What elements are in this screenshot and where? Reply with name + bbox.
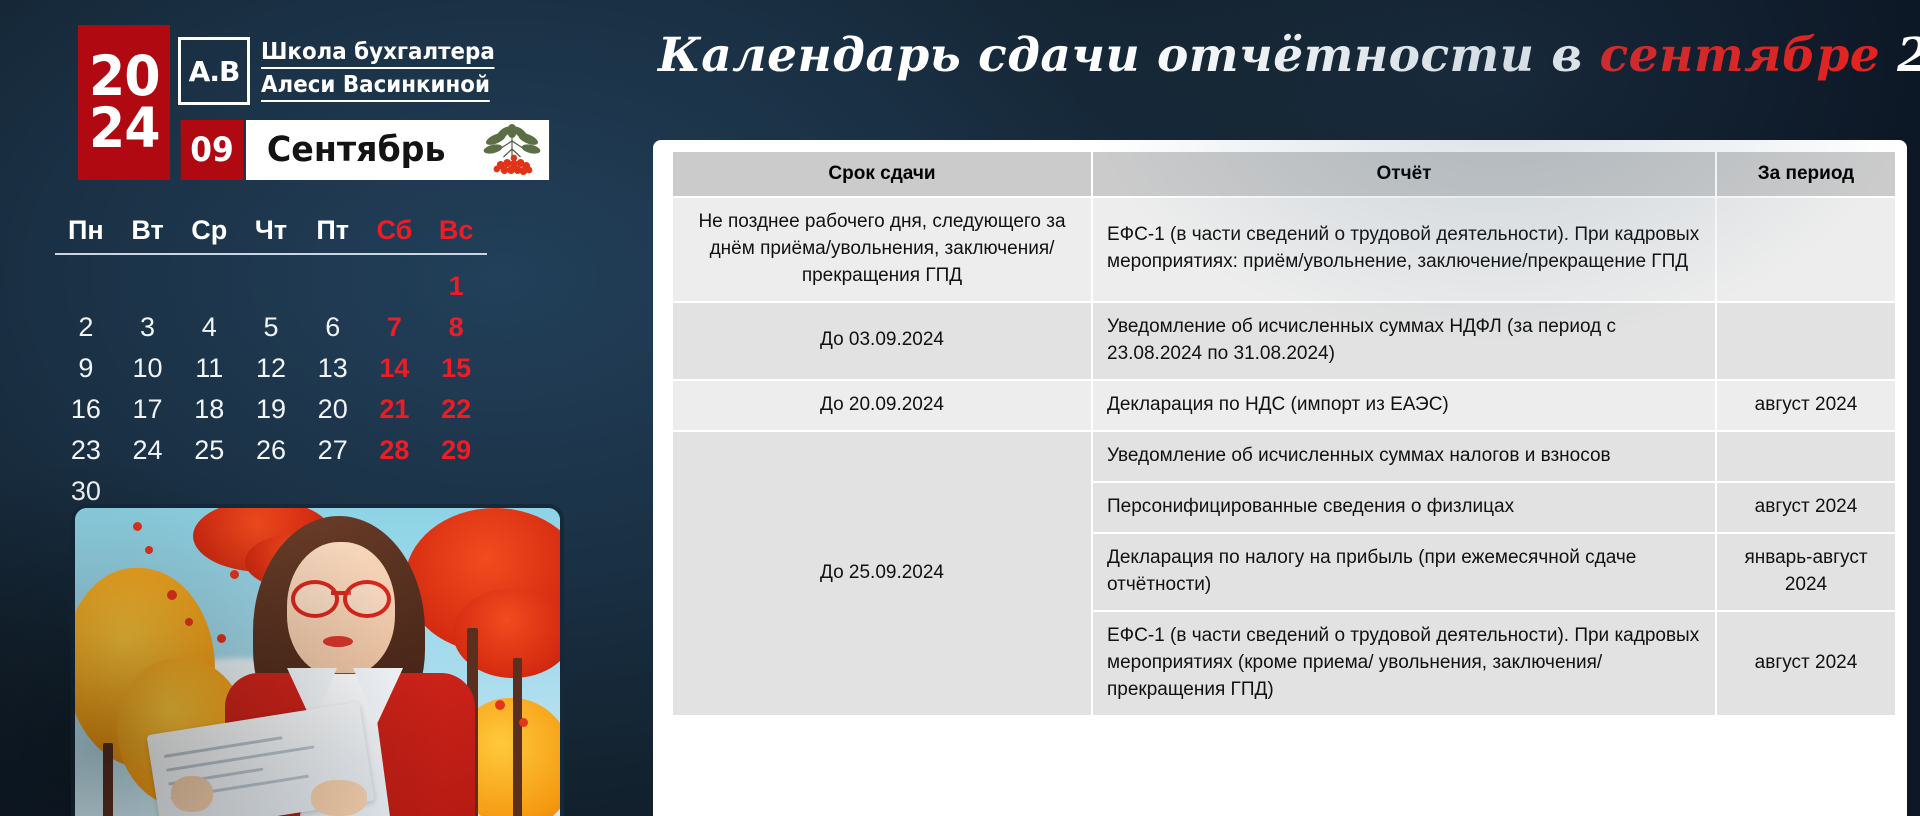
rowan-berries-icon (483, 123, 542, 177)
calendar-day-empty (302, 266, 364, 307)
calendar-day-empty (240, 471, 302, 512)
cell-report: Декларация по НДС (импорт из ЕАЭС) (1093, 381, 1715, 430)
brand-block: 20 24 А.В Школа бухгалтера Алеси Васинки… (78, 25, 565, 180)
brand-name-line1: Школа бухгалтера (261, 38, 495, 69)
calendar-day[interactable]: 18 (178, 389, 240, 430)
cell-report: Декларация по налогу на прибыль (при еже… (1093, 534, 1715, 610)
calendar-day[interactable]: 2 (55, 307, 117, 348)
autumn-accountant-illustration (75, 508, 560, 816)
glasses-icon (291, 580, 391, 610)
calendar-day[interactable]: 20 (302, 389, 364, 430)
calendar-day-empty (302, 471, 364, 512)
header-deadline: Срок сдачи (673, 152, 1091, 196)
calendar-day[interactable]: 9 (55, 348, 117, 389)
calendar-day-empty (117, 266, 179, 307)
cell-period: август 2024 (1717, 381, 1895, 430)
cell-report: Уведомление об исчисленных суммах налого… (1093, 432, 1715, 481)
month-number: 09 (181, 120, 244, 180)
calendar-day[interactable]: 15 (425, 348, 487, 389)
calendar-day-empty (364, 471, 426, 512)
calendar-day[interactable]: 5 (240, 307, 302, 348)
table-row: До 20.09.2024Декларация по НДС (импорт и… (673, 381, 1895, 430)
right-panel: Календарь сдачи отчётности в сентябре 20… (640, 0, 1920, 816)
berry-icon (217, 634, 226, 643)
month-name-label: Сентябрь (267, 130, 446, 170)
berry-icon (133, 522, 142, 531)
header-report: Отчёт (1093, 152, 1715, 196)
berry-icon (519, 718, 528, 727)
berry-icon (230, 570, 239, 579)
logo-row: А.В Школа бухгалтера Алеси Васинкиной (178, 25, 565, 117)
calendar-weekday: Ср (178, 215, 240, 246)
calendar-days-grid: 1234567891011121314151617181920212223242… (55, 266, 487, 512)
woman-lips (323, 636, 353, 647)
tree-trunk (103, 743, 113, 816)
cell-deadline: До 03.09.2024 (673, 303, 1091, 379)
logo-monogram-icon: А.В (178, 37, 250, 105)
year-badge: 20 24 (78, 25, 170, 180)
calendar-day[interactable]: 1 (425, 266, 487, 307)
calendar-day[interactable]: 3 (117, 307, 179, 348)
berry-icon (145, 546, 153, 554)
header-period: За период (1717, 152, 1895, 196)
calendar-day[interactable]: 27 (302, 430, 364, 471)
table-row: До 03.09.2024Уведомление об исчисленных … (673, 303, 1895, 379)
brand-name-line2: Алеси Васинкиной (261, 71, 490, 102)
cell-period: январь-август 2024 (1717, 534, 1895, 610)
cell-deadline: До 25.09.2024 (673, 432, 1091, 715)
calendar-weekday-header: ПнВтСрЧтПтСбВс (55, 215, 487, 255)
cell-period (1717, 303, 1895, 379)
calendar-weekday: Вт (117, 215, 179, 246)
left-panel: 20 24 А.В Школа бухгалтера Алеси Васинки… (0, 0, 640, 816)
table-header-row: Срок сдачи Отчёт За период (673, 152, 1895, 196)
calendar-weekday: Сб (364, 215, 426, 246)
table-row: Не позднее рабочего дня, следующего за д… (673, 198, 1895, 301)
calendar-weekday: Чт (240, 215, 302, 246)
calendar-day-empty (178, 471, 240, 512)
calendar-day[interactable]: 24 (117, 430, 179, 471)
cell-period (1717, 198, 1895, 301)
calendar-day-empty (425, 471, 487, 512)
berry-icon (167, 590, 177, 600)
calendar-day-empty (240, 266, 302, 307)
cell-period: август 2024 (1717, 612, 1895, 715)
cell-report: Уведомление об исчисленных суммах НДФЛ (… (1093, 303, 1715, 379)
calendar-day[interactable]: 22 (425, 389, 487, 430)
calendar-day[interactable]: 28 (364, 430, 426, 471)
calendar-weekday: Пн (55, 215, 117, 246)
month-strip: 09 Сентябрь (178, 120, 565, 180)
calendar-day[interactable]: 14 (364, 348, 426, 389)
calendar-day-empty (364, 266, 426, 307)
calendar-day[interactable]: 11 (178, 348, 240, 389)
calendar-day[interactable]: 16 (55, 389, 117, 430)
brand-name: Школа бухгалтера Алеси Васинкиной (261, 38, 495, 104)
calendar-day[interactable]: 21 (364, 389, 426, 430)
cell-report: Персонифицированные сведения о физлицах (1093, 483, 1715, 532)
year-bottom: 24 (89, 103, 160, 155)
report-table-card: Срок сдачи Отчёт За период Не позднее ра… (653, 140, 1907, 816)
page-title: Календарь сдачи отчётности в сентябре 20… (658, 28, 1898, 83)
calendar-weekday: Пт (302, 215, 364, 246)
title-year: 2024 (1880, 28, 1920, 83)
month-name: Сентябрь (246, 120, 549, 180)
calendar-day[interactable]: 23 (55, 430, 117, 471)
calendar-day[interactable]: 13 (302, 348, 364, 389)
berry-icon (495, 700, 505, 710)
cell-report: ЕФС-1 (в части сведений о трудовой деяте… (1093, 198, 1715, 301)
table-row: До 25.09.2024Уведомление об исчисленных … (673, 432, 1895, 481)
cell-period: август 2024 (1717, 483, 1895, 532)
woman-hand-left (171, 776, 213, 812)
cell-period (1717, 432, 1895, 481)
calendar-day[interactable]: 30 (55, 471, 117, 512)
calendar-day[interactable]: 17 (117, 389, 179, 430)
calendar-day[interactable]: 10 (117, 348, 179, 389)
glasses-lens-right (343, 580, 391, 618)
berry-icon (185, 618, 193, 626)
month-calendar: ПнВтСрЧтПтСбВс 1234567891011121314151617… (55, 215, 487, 512)
cell-deadline: До 20.09.2024 (673, 381, 1091, 430)
calendar-day-empty (55, 266, 117, 307)
report-table: Срок сдачи Отчёт За период Не позднее ра… (671, 150, 1897, 717)
calendar-day-empty (117, 471, 179, 512)
cell-deadline: Не позднее рабочего дня, следующего за д… (673, 198, 1091, 301)
calendar-day[interactable]: 25 (178, 430, 240, 471)
calendar-day[interactable]: 8 (425, 307, 487, 348)
calendar-day[interactable]: 19 (240, 389, 302, 430)
glasses-lens-left (291, 580, 339, 618)
calendar-day[interactable]: 12 (240, 348, 302, 389)
calendar-day[interactable]: 6 (302, 307, 364, 348)
tree-trunk (513, 658, 522, 816)
title-part1: Календарь сдачи отчётности в (658, 28, 1600, 83)
calendar-weekday: Вс (425, 215, 487, 246)
calendar-day[interactable]: 26 (240, 430, 302, 471)
calendar-poster: 20 24 А.В Школа бухгалтера Алеси Васинки… (0, 0, 1920, 816)
calendar-day[interactable]: 29 (425, 430, 487, 471)
calendar-day[interactable]: 4 (178, 307, 240, 348)
calendar-day[interactable]: 7 (364, 307, 426, 348)
title-accent-month: сентябре (1600, 28, 1881, 83)
woman-hand-right (311, 780, 367, 816)
cell-report: ЕФС-1 (в части сведений о трудовой деяте… (1093, 612, 1715, 715)
calendar-day-empty (178, 266, 240, 307)
